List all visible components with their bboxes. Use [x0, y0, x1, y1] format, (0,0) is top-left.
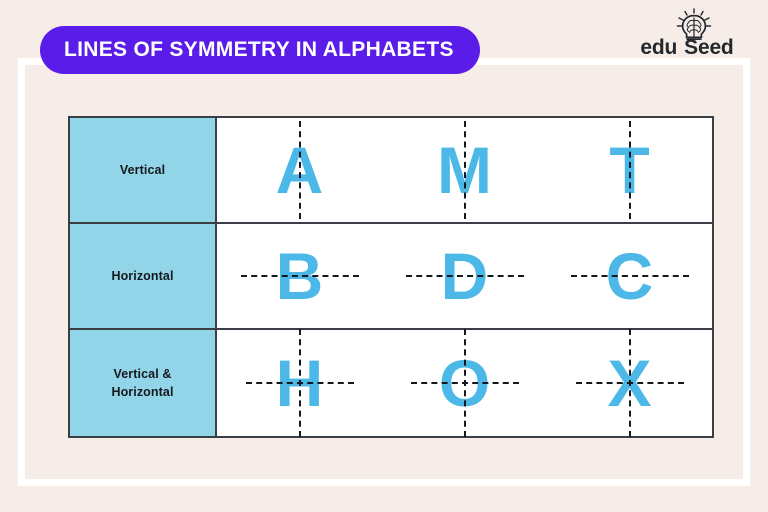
letter-cell: O	[382, 330, 547, 436]
page-title-badge: LINES OF SYMMETRY IN ALPHABETS	[40, 26, 480, 74]
letter-cell: A	[217, 118, 382, 222]
row-label-vertical: Vertical	[70, 118, 217, 222]
table-row: Horizontal B D C	[70, 224, 712, 330]
letter-cell: X	[547, 330, 712, 436]
letter-cell: C	[547, 224, 712, 328]
letter-glyph-wrap: C	[580, 228, 680, 324]
symmetry-table: Vertical A M T	[68, 116, 714, 438]
letter-glyph-wrap: T	[580, 122, 680, 218]
letter-glyph-wrap: A	[250, 122, 350, 218]
letter-glyph-wrap: O	[415, 335, 515, 431]
row-label-text: Vertical	[120, 161, 165, 179]
letter-glyph-wrap: D	[415, 228, 515, 324]
letter-glyph-wrap: B	[250, 228, 350, 324]
brand-logo: eduSeed	[622, 8, 752, 60]
letter-cell: B	[217, 224, 382, 328]
letter-glyph: M	[437, 137, 492, 203]
letter-glyph: C	[606, 243, 654, 309]
letter-glyph: X	[607, 350, 651, 416]
row-label-vertical-and-horizontal: Vertical & Horizontal	[70, 330, 217, 436]
letter-cell: M	[382, 118, 547, 222]
logo-text-seed: Seed	[684, 36, 733, 59]
letter-cell: T	[547, 118, 712, 222]
row-label-line-1: Vertical &	[114, 367, 172, 381]
letter-glyph-wrap: H	[250, 335, 350, 431]
logo-wordmark: eduSeed	[622, 36, 752, 60]
page-title: LINES OF SYMMETRY IN ALPHABETS	[64, 38, 454, 62]
letter-glyph: A	[276, 137, 324, 203]
letter-glyph-wrap: M	[415, 122, 515, 218]
row-cells: B D C	[217, 224, 712, 328]
row-label-text: Horizontal	[111, 267, 173, 285]
letter-glyph: T	[609, 137, 649, 203]
letter-glyph: H	[276, 350, 324, 416]
letter-glyph: B	[276, 243, 324, 309]
table-row: Vertical & Horizontal H O	[70, 330, 712, 436]
letter-glyph: O	[439, 350, 490, 416]
row-cells: A M T	[217, 118, 712, 222]
row-label-text: Vertical & Horizontal	[111, 365, 173, 401]
letter-cell: H	[217, 330, 382, 436]
logo-text-edu: edu	[640, 36, 677, 59]
letter-glyph-wrap: X	[580, 335, 680, 431]
row-cells: H O X	[217, 330, 712, 436]
row-label-line-2: Horizontal	[111, 385, 173, 399]
letter-cell: D	[382, 224, 547, 328]
table-row: Vertical A M T	[70, 118, 712, 224]
row-label-horizontal: Horizontal	[70, 224, 217, 328]
letter-glyph: D	[441, 243, 489, 309]
